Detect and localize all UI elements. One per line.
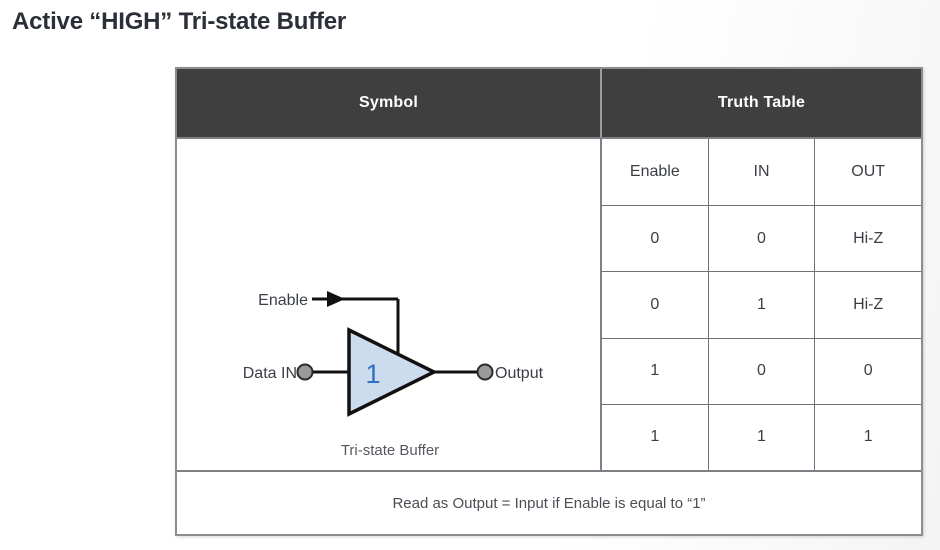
table-row: 1 1 1 <box>602 405 921 470</box>
enable-label: Enable <box>258 292 308 309</box>
cell-out: Hi-Z <box>815 206 921 271</box>
column-header-in: IN <box>709 139 816 205</box>
cell-out: 0 <box>815 339 921 404</box>
symbol-caption: Tri-state Buffer <box>341 442 439 459</box>
symbol-pane: 1 Enable Data IN Output Tri-state Buffer <box>177 139 602 470</box>
column-header-enable: Enable <box>602 139 709 205</box>
header-truth-table: Truth Table <box>602 69 921 137</box>
data-in-terminal-dot <box>298 365 313 380</box>
truth-table-header-row: Enable IN OUT <box>602 139 921 206</box>
cell-out: 1 <box>815 405 921 470</box>
header-symbol: Symbol <box>177 69 602 137</box>
cell-in: 1 <box>709 272 816 337</box>
table-row: 1 0 0 <box>602 339 921 405</box>
cell-in: 0 <box>709 339 816 404</box>
column-header-out: OUT <box>815 139 921 205</box>
cell-enable: 1 <box>602 339 709 404</box>
card-body: 1 Enable Data IN Output Tri-state Buffer… <box>177 139 921 470</box>
footer-note: Read as Output = Input if Enable is equa… <box>177 470 921 534</box>
cell-in: 0 <box>709 206 816 271</box>
cell-in: 1 <box>709 405 816 470</box>
gate-glyph: 1 <box>365 359 380 389</box>
cell-enable: 0 <box>602 272 709 337</box>
cell-enable: 1 <box>602 405 709 470</box>
table-row: 0 1 Hi-Z <box>602 272 921 338</box>
table-row: 0 0 Hi-Z <box>602 206 921 272</box>
output-label: Output <box>495 365 544 382</box>
tri-state-buffer-card: Symbol Truth Table 1 Enable <box>175 67 923 536</box>
card-header-row: Symbol Truth Table <box>177 69 921 139</box>
cell-enable: 0 <box>602 206 709 271</box>
tri-state-buffer-diagram: 1 Enable Data IN Output Tri-state Buffer <box>177 139 602 470</box>
buffer-triangle <box>349 330 434 414</box>
truth-table: Enable IN OUT 0 0 Hi-Z 0 1 Hi-Z 1 0 0 1 <box>602 139 921 470</box>
data-in-label: Data IN <box>243 365 297 382</box>
enable-arrowhead <box>327 291 345 307</box>
cell-out: Hi-Z <box>815 272 921 337</box>
output-terminal-dot <box>478 365 493 380</box>
page-title: Active “HIGH” Tri-state Buffer <box>12 8 346 36</box>
